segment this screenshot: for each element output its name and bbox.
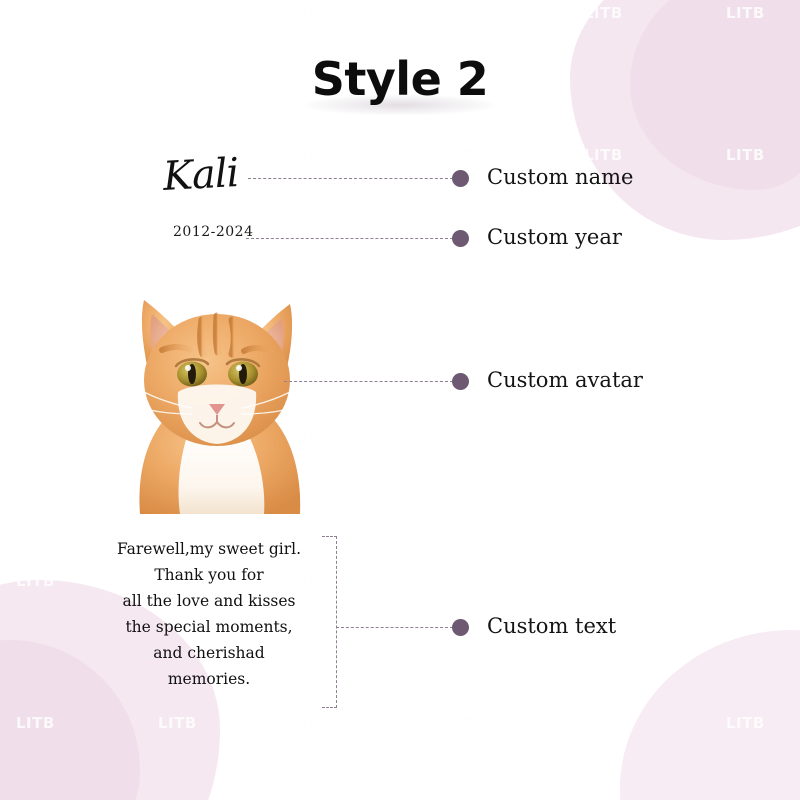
- watermark-text: LITB: [16, 288, 55, 306]
- memorial-text-block: Farewell,my sweet girl. Thank you for al…: [98, 536, 320, 692]
- watermark-text: LITB: [300, 146, 339, 164]
- watermark-text: LITB: [442, 714, 481, 732]
- watermark-text: LITB: [584, 4, 623, 22]
- memorial-line: and cherishad: [98, 640, 320, 666]
- product-feature-graphic: LITBLITBLITBLITBLITBLITBLITBLITBLITBLITB…: [0, 0, 800, 800]
- watermark-text: LITB: [726, 146, 765, 164]
- watermark-text: LITB: [726, 430, 765, 448]
- custom-year-dot: [452, 230, 469, 247]
- watermark-text: LITB: [442, 288, 481, 306]
- watermark-text: LITB: [16, 430, 55, 448]
- custom-name-dot: [452, 170, 469, 187]
- memorial-line: memories.: [98, 666, 320, 692]
- watermark-text: LITB: [442, 146, 481, 164]
- watermark-text: LITB: [584, 572, 623, 590]
- custom-text-leader-line: [336, 627, 453, 628]
- watermark-text: LITB: [442, 430, 481, 448]
- cat-portrait-image: [96, 246, 336, 514]
- decorative-blob-bottom-right: [620, 630, 800, 800]
- watermark-text: LITB: [726, 4, 765, 22]
- memorial-line: the special moments,: [98, 614, 320, 640]
- custom-avatar-label: Custom avatar: [487, 368, 643, 392]
- custom-avatar-leader-line: [284, 381, 453, 382]
- memorial-line: Thank you for: [98, 562, 320, 588]
- watermark-text: LITB: [584, 430, 623, 448]
- watermark-text: LITB: [16, 572, 55, 590]
- watermark-text: LITB: [16, 4, 55, 22]
- custom-text-bracket: [322, 536, 337, 708]
- watermark-text: LITB: [16, 146, 55, 164]
- watermark-text: LITB: [726, 288, 765, 306]
- memorial-line: Farewell,my sweet girl.: [98, 536, 320, 562]
- custom-text-label: Custom text: [487, 614, 616, 638]
- watermark-text: LITB: [584, 146, 623, 164]
- pet-years-text: 2012-2024: [173, 224, 254, 240]
- watermark-text: LITB: [726, 572, 765, 590]
- custom-text-dot: [452, 619, 469, 636]
- watermark-text: LITB: [158, 714, 197, 732]
- watermark-text: LITB: [16, 714, 55, 732]
- watermark-text: LITB: [300, 714, 339, 732]
- watermark-text: LITB: [442, 572, 481, 590]
- decorative-blob-top-right: [570, 0, 800, 240]
- custom-year-label: Custom year: [487, 225, 622, 249]
- watermark-text: LITB: [300, 4, 339, 22]
- watermark-text: LITB: [442, 4, 481, 22]
- title-block: Style 2: [0, 52, 800, 106]
- page-title: Style 2: [312, 52, 489, 106]
- custom-name-leader-line: [248, 178, 453, 179]
- watermark-text: LITB: [158, 4, 197, 22]
- watermark-text: LITB: [584, 288, 623, 306]
- custom-name-label: Custom name: [487, 165, 633, 189]
- memorial-line: all the love and kisses: [98, 588, 320, 614]
- watermark-text: LITB: [584, 714, 623, 732]
- watermark-text: LITB: [726, 714, 765, 732]
- custom-avatar-dot: [452, 373, 469, 390]
- pet-name-text: Kali: [162, 150, 240, 200]
- custom-year-leader-line: [246, 238, 453, 239]
